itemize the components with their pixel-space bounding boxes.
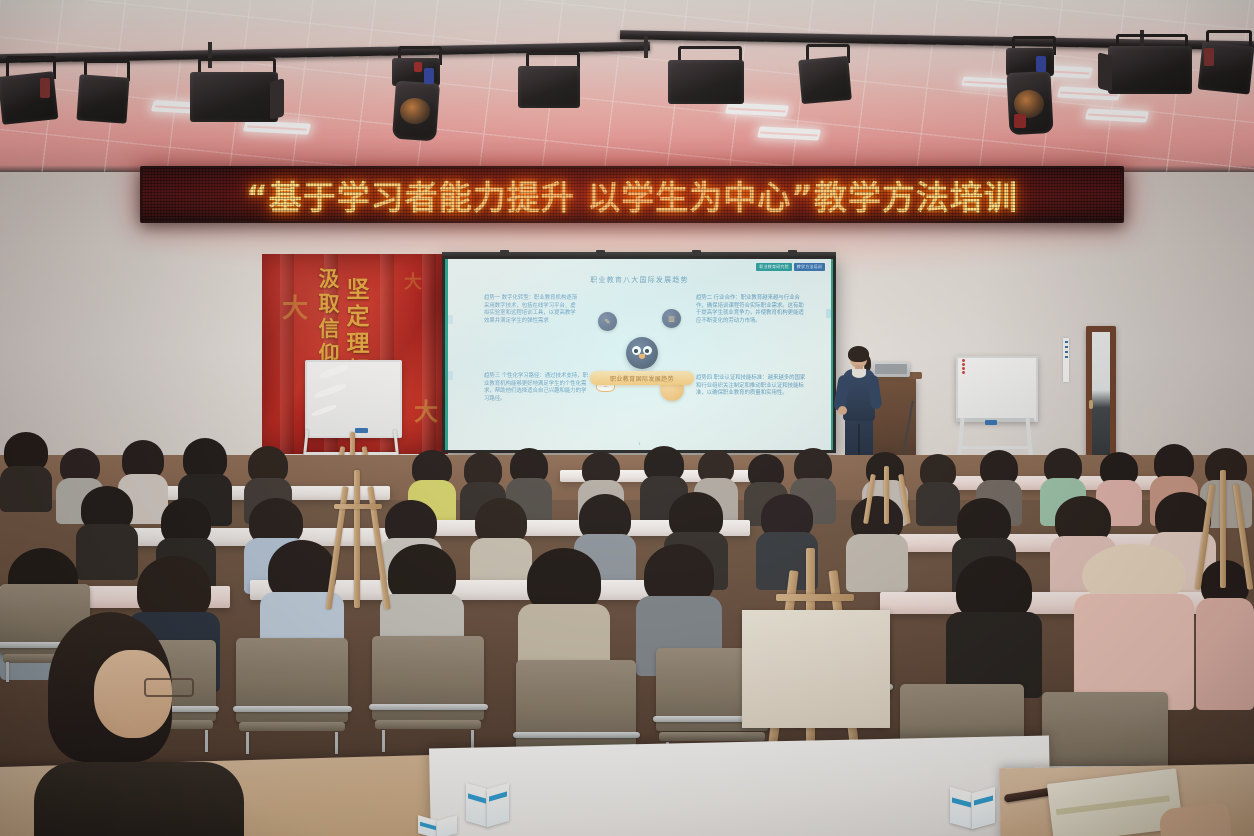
whiteboard-magnets (962, 358, 970, 382)
easel (864, 466, 918, 524)
glasses (144, 678, 194, 697)
presenter-hair (848, 346, 869, 362)
name-tent-card (466, 786, 508, 824)
name-tent-card (418, 818, 458, 836)
stage-light (798, 44, 852, 110)
backdrop-decor-char: 大 (282, 288, 308, 325)
slide-watermark: 职业教育研究院 教学方法培训 (756, 263, 825, 271)
presenter-hand-left (838, 406, 847, 415)
stage-light (388, 46, 446, 150)
audience-member (0, 432, 52, 512)
audience-member (1074, 540, 1194, 710)
lecture-hall-photo: “基于学习者能力提升 以学生为中心”教学方法培训 汲取信仰 坚定理想信念 大 大… (0, 0, 1254, 836)
slide-owl-mascot-icon (626, 337, 658, 369)
ceiling (0, 0, 1254, 172)
slide-center-badge: 职业教育国际发展趋势 (590, 371, 694, 385)
wall-poster (1063, 338, 1069, 382)
presenter (836, 348, 882, 466)
foreground-audience-member (48, 612, 216, 836)
chair[interactable] (372, 636, 484, 750)
slide-node-icon-1: ✎ (598, 312, 617, 331)
stage-light (190, 58, 282, 124)
slide-node-icon-4 (660, 377, 684, 401)
led-banner-text: “基于学习者能力提升 以学生为中心”教学方法培训 (246, 171, 1018, 219)
stage-light (1002, 36, 1060, 146)
door-glass-panel (1092, 332, 1110, 458)
led-banner: “基于学习者能力提升 以学生为中心”教学方法培训 (140, 166, 1124, 223)
backdrop-calligraphy-column-a: 汲取信仰 (316, 266, 342, 366)
door-handle[interactable] (1089, 400, 1093, 409)
canvas-board (742, 610, 890, 728)
slide-block-trend-3: 趋势三 个性化学习路径：通过技术支持，职业教育机构能够更好地满足学生的个性化需求… (484, 373, 588, 403)
audience-member (946, 556, 1042, 698)
stage-light (1200, 30, 1254, 104)
whiteboard-crossbar (960, 446, 1030, 449)
presentation-slide: 职业教育研究院 教学方法培训 职业教育八大国际发展趋势 趋势一 数字化转型：职业… (445, 259, 833, 450)
chair[interactable] (236, 638, 348, 752)
slide-title: 职业教育八大国际发展趋势 (448, 275, 831, 285)
slide-side-tab (448, 371, 453, 380)
presenter-collar (852, 369, 866, 378)
slide-node-icon-2: ▥ (662, 309, 681, 328)
slide-watermark-left: 职业教育研究院 (756, 263, 791, 271)
name-tent-card (950, 790, 994, 826)
stage-light (518, 52, 582, 116)
slide-side-tab (448, 315, 453, 324)
backdrop-decor-char: 大 (404, 268, 422, 294)
easel (330, 470, 400, 610)
stage-light (668, 46, 746, 108)
slide-block-trend-1: 趋势一 数字化转型：职业教育机构逐渐采用数字技术，包括在线学习平台、虚拟实验室和… (484, 295, 580, 325)
easel (1200, 470, 1254, 590)
slide-watermark-right: 教学方法培训 (794, 263, 825, 271)
foreground-person-body (34, 762, 244, 836)
slide-side-tab (826, 309, 831, 318)
stage-light (1108, 34, 1194, 98)
slide-block-trend-2: 趋势二 行业合作：职业教育越来越与行业合作，确保培训课程符合实际职业需求。这有助… (696, 295, 808, 325)
projection-screen: 职业教育研究院 教学方法培训 职业教育八大国际发展趋势 趋势一 数字化转型：职业… (442, 256, 836, 453)
stage-light (78, 60, 130, 132)
stage-light (0, 56, 58, 130)
backdrop-decor-char: 大 (414, 392, 438, 427)
whiteboard-badge (985, 420, 997, 425)
flipchart-board (305, 360, 402, 438)
slide-node-icon-3: = (596, 381, 615, 392)
slide-block-trend-4: 趋势四 职业认证和技能标准：越来越多的国家和行业组织关注制定和推动职业认证和技能… (696, 375, 808, 398)
truss-post (644, 36, 648, 58)
